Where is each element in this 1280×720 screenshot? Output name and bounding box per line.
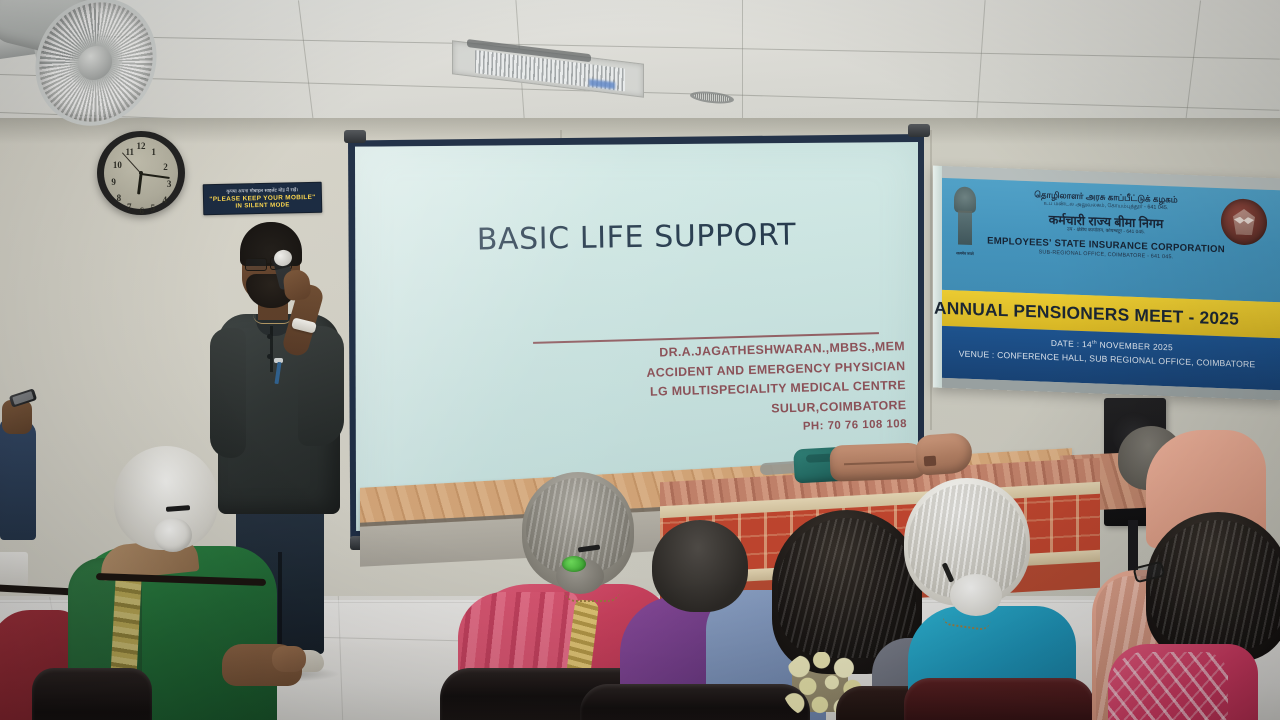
- clock-number: 12: [137, 141, 146, 151]
- attendee-pink-print-saree: [1120, 512, 1280, 720]
- ceiling-speaker-icon: [690, 90, 734, 106]
- paper-cup-icon: [0, 552, 28, 588]
- attendee-hand: [272, 646, 306, 672]
- hair-clip-icon: [562, 556, 586, 572]
- banner-date-label: DATE : 14: [1051, 338, 1092, 350]
- clock-number: 2: [163, 162, 168, 172]
- screen-roller-left: [344, 130, 366, 143]
- clock-number: 1: [151, 147, 156, 157]
- attendee-hair: [652, 520, 748, 612]
- manikin-mouth: [924, 456, 937, 467]
- clock-number: 7: [127, 202, 132, 212]
- clock-number: 6: [140, 206, 145, 216]
- clock-number: 5: [151, 203, 156, 213]
- sign-line-2: IN SILENT MODE: [235, 201, 289, 209]
- cpr-manikin: [812, 432, 982, 484]
- clock-number: 11: [125, 147, 134, 157]
- slide-title: BASIC LIFE SUPPORT: [355, 216, 918, 260]
- screen-roller-right: [908, 124, 930, 137]
- conference-hall-photo: 12 1 2 3 4 5 6 7 8 9 10 11 कृपया अपना मो…: [0, 0, 1280, 720]
- clock-hour-hand: [137, 174, 142, 194]
- necklace-icon: [564, 590, 620, 602]
- attendee-teal-blouse: [890, 478, 1090, 720]
- slide-credits: DR.A.JAGATHESHWARAN.,MBBS.,MEM ACCIDENT …: [525, 337, 907, 443]
- esic-logo-icon: [1221, 198, 1267, 246]
- suspended-ceiling: [0, 0, 1280, 132]
- presenter-left-arm: [210, 328, 246, 458]
- attendee-hair-bun: [154, 518, 192, 552]
- clock-number: 4: [162, 195, 167, 205]
- wall-seam: [930, 130, 932, 430]
- banner-headline: ANNUAL PENSIONERS MEET - 2025: [934, 297, 1239, 329]
- saree-print-pattern: [1108, 652, 1228, 720]
- esic-event-banner: सत्यमेव जयते தொழிலாளர் அரசு காப்பீட்டுக்…: [933, 166, 1280, 401]
- clock-number: 3: [167, 179, 172, 189]
- eyeglasses-icon: [245, 258, 267, 271]
- hair-strand-lines: [1150, 520, 1280, 650]
- presenter-chain: [253, 314, 293, 324]
- attendee-hair-bun: [950, 574, 1002, 616]
- chair-back: [32, 668, 152, 720]
- manikin-head: [915, 432, 974, 476]
- chair-back: [904, 678, 1094, 720]
- clock-center-pin: [139, 171, 143, 175]
- silent-mode-sign: कृपया अपना मोबाइल साइलेंट मोड में रखें। …: [203, 182, 323, 215]
- presenter-hand: [283, 269, 312, 302]
- clock-minute-hand: [141, 173, 170, 179]
